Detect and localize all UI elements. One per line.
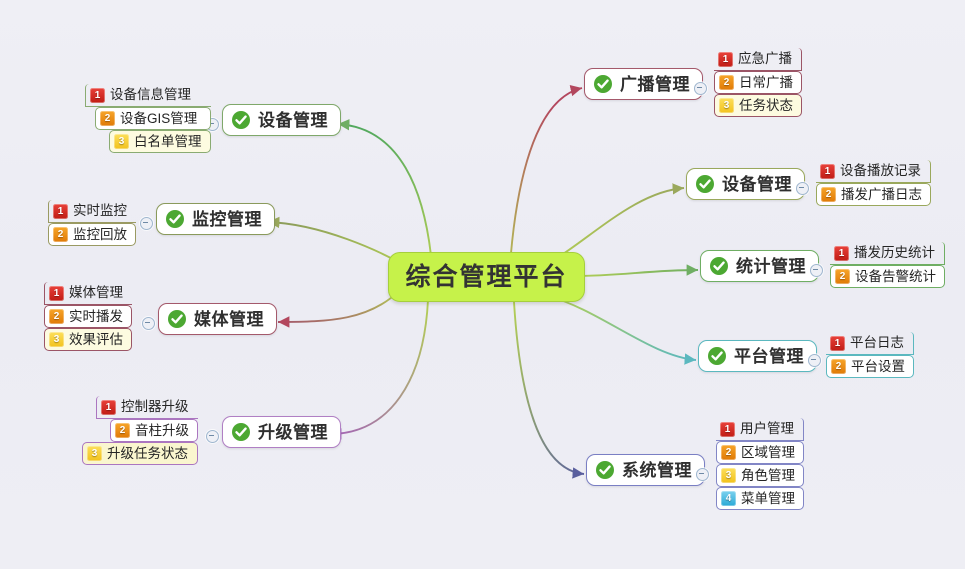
badge-number: 3: [114, 134, 129, 149]
leaf-item[interactable]: 2 监控回放: [48, 223, 136, 246]
badge-number: 2: [721, 445, 736, 460]
badge-number: 1: [720, 422, 735, 437]
leaf-label: 效果评估: [69, 333, 123, 347]
leaf-item[interactable]: 2 播发广播日志: [816, 183, 931, 206]
branch-label: 平台管理: [734, 348, 804, 365]
badge-number: 4: [721, 491, 736, 506]
leaf-item[interactable]: 2 平台设置: [826, 355, 914, 378]
branch-node-broadcast[interactable]: 广播管理: [584, 68, 703, 100]
branch-node-device-right[interactable]: 设备管理: [686, 168, 805, 200]
badge-number: 2: [719, 75, 734, 90]
badge-number: 1: [90, 88, 105, 103]
leaf-item[interactable]: 1 媒体管理: [44, 282, 132, 305]
leafgroup-broadcast: 1 应急广播 2 日常广播 3 任务状态: [714, 48, 802, 117]
branch-node-monitor[interactable]: 监控管理: [156, 203, 275, 235]
wire-device-left: [338, 124, 432, 265]
badge-number: 1: [820, 164, 835, 179]
leaf-label: 任务状态: [739, 99, 793, 113]
leaf-item[interactable]: 2 设备GIS管理: [95, 107, 211, 130]
branch-label: 系统管理: [622, 462, 692, 479]
badge-number: 1: [834, 246, 849, 261]
collapse-toggle-icon[interactable]: [694, 82, 707, 95]
branch-node-system[interactable]: 系统管理: [586, 454, 705, 486]
leaf-label: 设备GIS管理: [120, 112, 197, 126]
branch-label: 设备管理: [722, 176, 792, 193]
leaf-item[interactable]: 2 音柱升级: [110, 419, 198, 442]
leaf-item[interactable]: 1 平台日志: [826, 332, 914, 355]
leafgroup-stats: 1 播发历史统计 2 设备告警统计: [830, 242, 945, 288]
leafgroup-media: 1 媒体管理 2 实时播发 3 效果评估: [44, 282, 132, 351]
leaf-label: 升级任务状态: [107, 447, 188, 461]
leaf-label: 实时监控: [73, 204, 127, 218]
badge-number: 3: [719, 98, 734, 113]
leaf-label: 监控回放: [73, 228, 127, 242]
leaf-item[interactable]: 2 实时播发: [44, 305, 132, 328]
leaf-item[interactable]: 3 任务状态: [714, 94, 802, 117]
leafgroup-system: 1 用户管理 2 区域管理 3 角色管理 4 菜单管理: [716, 418, 804, 510]
green-check-circle-icon: [167, 309, 187, 329]
badge-number: 3: [87, 446, 102, 461]
leafgroup-device-left: 1 设备信息管理 2 设备GIS管理 3 白名单管理: [85, 84, 211, 153]
branch-node-stats[interactable]: 统计管理: [700, 250, 819, 282]
leaf-item[interactable]: 2 区域管理: [716, 441, 804, 464]
root-label: 综合管理平台: [405, 265, 567, 290]
green-check-circle-icon: [165, 209, 185, 229]
wire-stats: [574, 270, 698, 276]
leaf-item[interactable]: 1 控制器升级: [96, 396, 198, 419]
badge-number: 3: [721, 468, 736, 483]
badge-number: 1: [101, 400, 116, 415]
green-check-circle-icon: [593, 74, 613, 94]
badge-number: 2: [115, 423, 130, 438]
leaf-label: 设备告警统计: [855, 270, 936, 284]
leafgroup-monitor: 1 实时监控 2 监控回放: [48, 200, 136, 246]
leaf-item[interactable]: 3 角色管理: [716, 464, 804, 487]
badge-number: 2: [49, 309, 64, 324]
green-check-circle-icon: [707, 346, 727, 366]
collapse-toggle-icon[interactable]: [140, 217, 153, 230]
leaf-item[interactable]: 3 升级任务状态: [82, 442, 198, 465]
leaf-label: 白名单管理: [134, 135, 202, 149]
leaf-item[interactable]: 4 菜单管理: [716, 487, 804, 510]
collapse-toggle-icon[interactable]: [796, 182, 809, 195]
leaf-label: 平台日志: [850, 336, 904, 350]
collapse-toggle-icon[interactable]: [810, 264, 823, 277]
leaf-label: 用户管理: [740, 422, 794, 436]
badge-number: 1: [49, 286, 64, 301]
leaf-item[interactable]: 2 日常广播: [714, 71, 802, 94]
leaf-item[interactable]: 2 设备告警统计: [830, 265, 945, 288]
root-node[interactable]: 综合管理平台: [388, 252, 585, 302]
leaf-label: 设备信息管理: [110, 88, 191, 102]
badge-number: 1: [53, 204, 68, 219]
badge-number: 2: [835, 269, 850, 284]
leaf-label: 实时播发: [69, 310, 123, 324]
green-check-circle-icon: [231, 110, 251, 130]
green-check-circle-icon: [595, 460, 615, 480]
leaf-item[interactable]: 3 白名单管理: [109, 130, 211, 153]
leaf-label: 播发历史统计: [854, 246, 935, 260]
branch-node-device-left[interactable]: 设备管理: [222, 104, 341, 136]
leaf-label: 角色管理: [741, 469, 795, 483]
branch-label: 监控管理: [192, 211, 262, 228]
leaf-item[interactable]: 1 播发历史统计: [830, 242, 945, 265]
branch-node-media[interactable]: 媒体管理: [158, 303, 277, 335]
branch-label: 升级管理: [258, 424, 328, 441]
leaf-item[interactable]: 1 应急广播: [714, 48, 802, 71]
mindmap-canvas: 综合管理平台 设备管理 1 设备信息管理 2 设备GIS管理 3 白名单管理 监…: [0, 0, 965, 569]
branch-node-platform[interactable]: 平台管理: [698, 340, 817, 372]
branch-label: 设备管理: [258, 112, 328, 129]
branch-label: 广播管理: [620, 76, 690, 93]
green-check-circle-icon: [695, 174, 715, 194]
collapse-toggle-icon[interactable]: [206, 430, 219, 443]
leafgroup-upgrade: 1 控制器升级 2 音柱升级 3 升级任务状态: [82, 396, 198, 465]
collapse-toggle-icon[interactable]: [696, 468, 709, 481]
badge-number: 2: [821, 187, 836, 202]
leaf-label: 日常广播: [739, 76, 793, 90]
wire-upgrade: [330, 300, 428, 434]
leaf-item[interactable]: 1 用户管理: [716, 418, 804, 441]
branch-label: 媒体管理: [194, 311, 264, 328]
badge-number: 2: [100, 111, 115, 126]
leaf-label: 应急广播: [738, 52, 792, 66]
leaf-label: 平台设置: [851, 360, 905, 374]
green-check-circle-icon: [231, 422, 251, 442]
leaf-label: 区域管理: [741, 446, 795, 460]
leaf-item[interactable]: 1 设备信息管理: [85, 84, 211, 107]
wire-media: [278, 290, 400, 322]
leaf-label: 菜单管理: [741, 492, 795, 506]
badge-number: 2: [831, 359, 846, 374]
leaf-label: 设备播放记录: [840, 164, 921, 178]
badge-number: 3: [49, 332, 64, 347]
leafgroup-platform: 1 平台日志 2 平台设置: [826, 332, 914, 378]
leaf-label: 播发广播日志: [841, 188, 922, 202]
badge-number: 1: [830, 336, 845, 351]
green-check-circle-icon: [709, 256, 729, 276]
leafgroup-device-right: 1 设备播放记录 2 播发广播日志: [816, 160, 931, 206]
leaf-item[interactable]: 1 实时监控: [48, 200, 136, 223]
leaf-label: 音柱升级: [135, 424, 189, 438]
branch-node-upgrade[interactable]: 升级管理: [222, 416, 341, 448]
badge-number: 2: [53, 227, 68, 242]
leaf-label: 媒体管理: [69, 286, 123, 300]
wire-system: [514, 302, 584, 474]
leaf-item[interactable]: 3 效果评估: [44, 328, 132, 351]
wire-platform: [548, 296, 696, 360]
branch-label: 统计管理: [736, 258, 806, 275]
collapse-toggle-icon[interactable]: [142, 317, 155, 330]
leaf-label: 控制器升级: [121, 400, 189, 414]
leaf-item[interactable]: 1 设备播放记录: [816, 160, 931, 183]
badge-number: 1: [718, 52, 733, 67]
collapse-toggle-icon[interactable]: [808, 354, 821, 367]
